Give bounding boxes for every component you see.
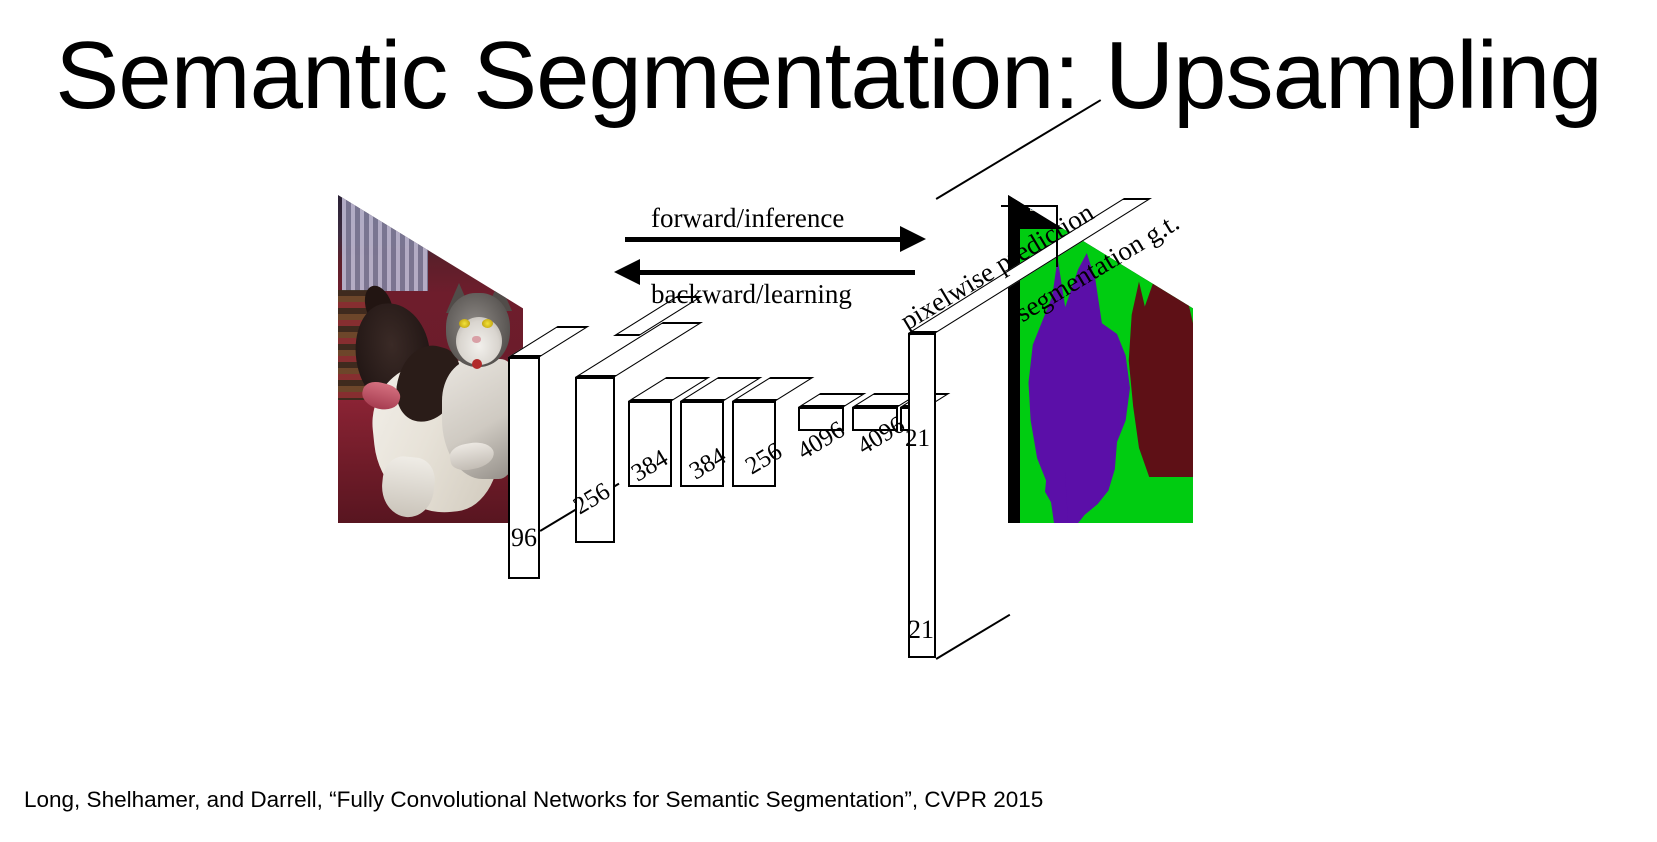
backward-arrow-line — [640, 270, 915, 275]
photo-foliage — [484, 195, 523, 219]
prediction-bracket-horizontal — [1001, 205, 1056, 207]
photo-cat-nose — [472, 336, 481, 343]
output-depth-label-21: 21 — [908, 615, 934, 645]
photo-window-2 — [430, 195, 480, 231]
slide-canvas: Semantic Segmentation: Upsampling — [0, 0, 1657, 842]
forward-arrow-label: forward/inference — [651, 203, 844, 234]
backward-arrow-label: backward/learning — [651, 279, 852, 310]
photo-cat-eye-left — [459, 319, 470, 328]
photo-cat-eye-right — [482, 319, 493, 328]
citation-text: Long, Shelhamer, and Darrell, “Fully Con… — [24, 787, 1043, 813]
forward-arrow-head — [900, 226, 926, 252]
page-title: Semantic Segmentation: Upsampling — [0, 28, 1657, 124]
forward-arrow-line — [625, 237, 905, 242]
output-plane-leader — [936, 614, 1010, 660]
fcn-architecture-diagram: forward/inference backward/learning 96 2… — [0, 150, 1300, 670]
backward-arrow-head — [614, 259, 640, 285]
input-image — [338, 195, 523, 636]
photo-window — [342, 195, 428, 291]
layer-label-21: 21 — [905, 425, 930, 453]
layer-label-96: 96 — [511, 523, 537, 553]
photo-cat-collar — [472, 359, 482, 369]
output-plane-21-front — [908, 333, 936, 658]
input-image-content — [338, 195, 523, 523]
